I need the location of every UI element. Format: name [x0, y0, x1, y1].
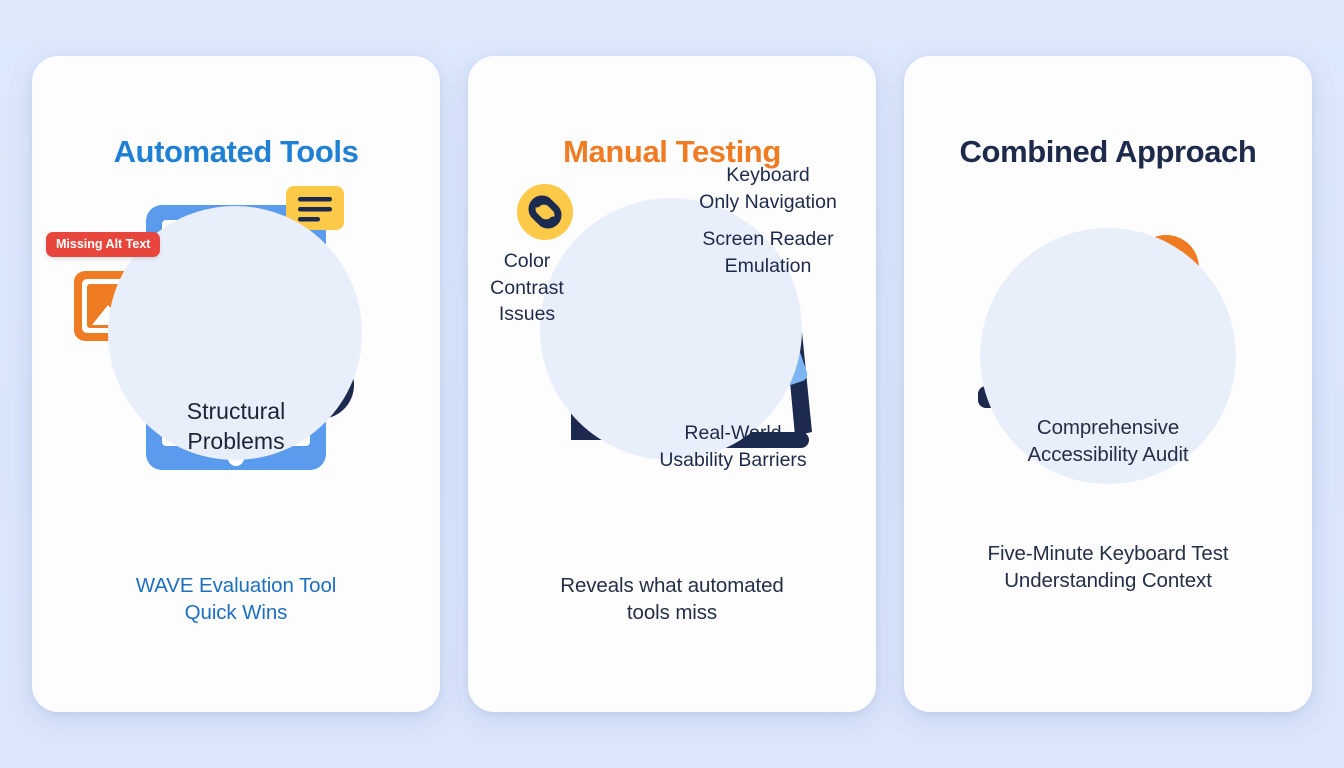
footer-line-1: WAVE Evaluation Tool [32, 572, 440, 599]
illustration-manual-testing: Keyboard Only Navigation Screen Reader E… [468, 170, 876, 590]
badge-missing-alt-text: Missing Alt Text [46, 232, 160, 257]
footer-line-1: Five-Minute Keyboard Test [904, 540, 1312, 567]
footer-line-2: Quick Wins [32, 599, 440, 626]
caption-keyboard-only-navigation: Keyboard Only Navigation [660, 162, 876, 215]
card-title-automated-tools: Automated Tools [114, 134, 359, 170]
card-automated-tools[interactable]: Automated Tools [32, 56, 440, 712]
footer-line-2: tools miss [468, 599, 876, 626]
caption-screen-reader-emulation: Screen Reader Emulation [660, 226, 876, 279]
footer-automated-tools: WAVE Evaluation Tool Quick Wins [32, 572, 440, 626]
caption-real-world-usability-barriers: Real-World Usability Barriers [618, 420, 848, 473]
card-manual-testing[interactable]: Manual Testing [468, 56, 876, 712]
footer-line-1: Reveals what automated [468, 572, 876, 599]
card-combined-approach[interactable]: Combined Approach [904, 56, 1312, 712]
footer-combined-approach: Five-Minute Keyboard Test Understanding … [904, 540, 1312, 594]
mid-line-2: Accessibility Audit [904, 441, 1312, 468]
infographic-canvas: Automated Tools [0, 0, 1344, 768]
footer-manual-testing: Reveals what automated tools miss [468, 572, 876, 626]
illustration-automated-tools: Missing Alt Text Structural Problems [32, 170, 440, 590]
label-structural-problems: Structural Problems [146, 396, 326, 456]
card-title-combined-approach: Combined Approach [960, 134, 1257, 170]
footer-line-2: Understanding Context [904, 567, 1312, 594]
mid-text-combined-approach: Comprehensive Accessibility Audit [904, 414, 1312, 468]
caption-color-contrast-issues: Color Contrast Issues [472, 248, 582, 328]
link-chain-icon [517, 184, 573, 240]
mid-line-1: Comprehensive [904, 414, 1312, 441]
